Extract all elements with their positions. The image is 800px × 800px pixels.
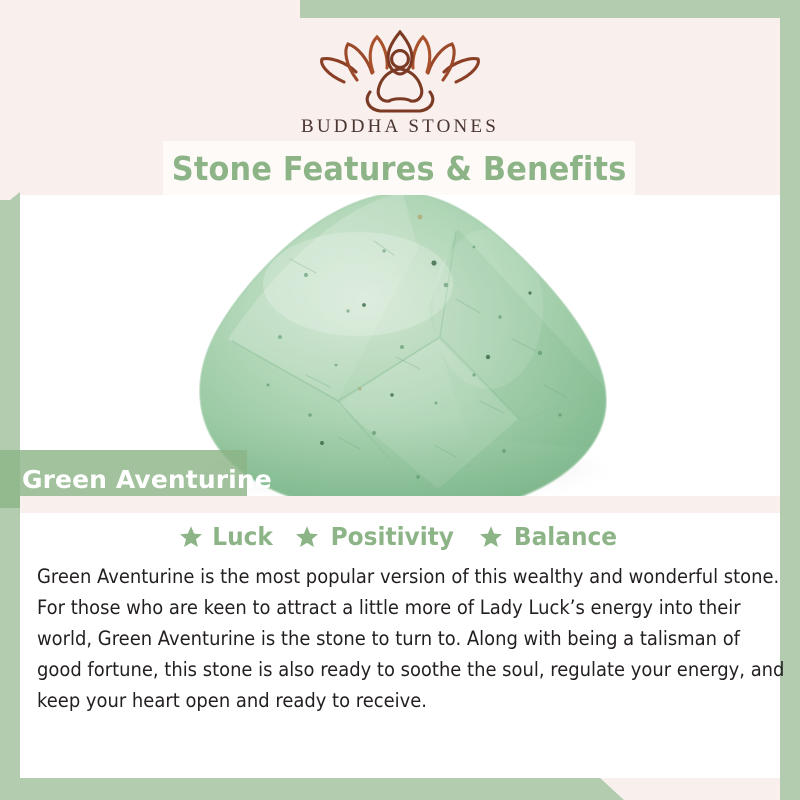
cream-divider-strip bbox=[20, 496, 780, 513]
keyword-item-positivity: Positivity bbox=[295, 522, 459, 551]
keyword-item-balance: Balance bbox=[479, 522, 621, 551]
description-text: Green Aventurine is the most popular ver… bbox=[37, 561, 788, 716]
infographic-page: BUDDHA STONES Stone Features & Benefits bbox=[0, 0, 800, 800]
star-icon bbox=[179, 525, 203, 549]
content-panel: Luck Positivity Balance Green Aventurine… bbox=[20, 513, 780, 778]
frame-chamfer-top-left bbox=[0, 192, 20, 208]
brand-name: BUDDHA STONES bbox=[301, 116, 499, 138]
keyword-label: Balance bbox=[514, 522, 617, 551]
keyword-label: Positivity bbox=[331, 522, 454, 551]
star-icon bbox=[479, 525, 503, 549]
green-aventurine-stone-image bbox=[188, 195, 618, 505]
keyword-item-luck: Luck bbox=[179, 522, 275, 551]
stone-name-text: Green Aventurine bbox=[0, 465, 272, 494]
frame-chamfer-bottom-right bbox=[600, 778, 624, 800]
frame-band-bottom bbox=[0, 778, 600, 800]
brand-logo: BUDDHA STONES bbox=[20, 26, 780, 138]
page-title: Stone Features & Benefits bbox=[172, 149, 627, 188]
frame-band-top bbox=[300, 0, 800, 18]
keyword-list: Luck Positivity Balance bbox=[20, 513, 780, 551]
title-banner: Stone Features & Benefits bbox=[163, 141, 635, 195]
star-icon bbox=[295, 525, 319, 549]
keyword-label: Luck bbox=[212, 522, 273, 551]
lotus-meditation-figure-icon bbox=[310, 26, 490, 114]
